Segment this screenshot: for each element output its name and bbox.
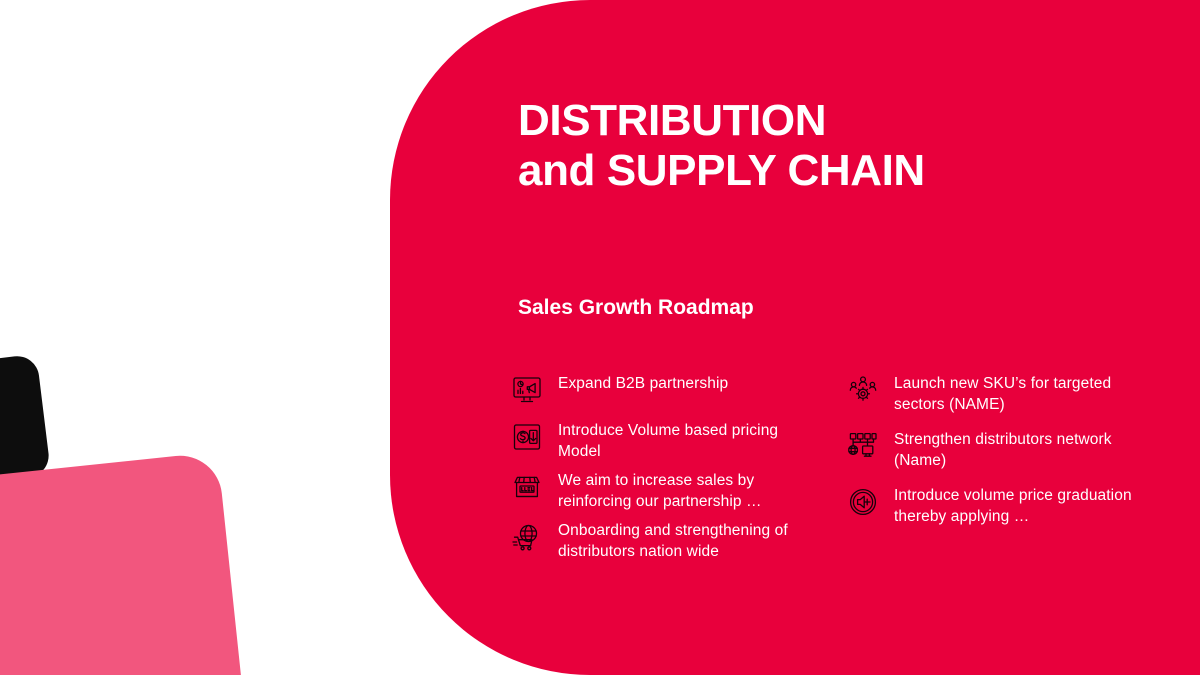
dollar-down-arrow-icon <box>510 420 544 454</box>
page-title: DISTRIBUTION and SUPPLY CHAIN <box>518 96 1138 196</box>
list-item[interactable]: Launch new SKU’s for targeted sectors (N… <box>846 372 1160 415</box>
list-item-label: We aim to increase sales by reinforcing … <box>558 469 824 512</box>
list-item[interactable]: We aim to increase sales by reinforcing … <box>510 469 824 512</box>
list-item-label: Introduce Volume based pricing Model <box>558 419 824 462</box>
section-subtitle: Sales Growth Roadmap <box>518 296 754 320</box>
network-globe-monitor-icon <box>846 429 880 463</box>
page-title-line-2: and SUPPLY CHAIN <box>518 146 1138 196</box>
list-item-label: Onboarding and strengthening of distribu… <box>558 519 824 562</box>
roadmap-column-left: Expand B2B partnership Introduce Volume … <box>510 372 824 572</box>
decorative-black-shape <box>0 354 51 485</box>
list-item[interactable]: Onboarding and strengthening of distribu… <box>510 519 824 562</box>
gear-people-target-icon <box>846 373 880 407</box>
page-title-line-1: DISTRIBUTION <box>518 96 1138 146</box>
roadmap-columns: Expand B2B partnership Introduce Volume … <box>510 372 1160 572</box>
globe-shopping-cart-icon <box>510 520 544 554</box>
list-item[interactable]: Introduce Volume based pricing Model <box>510 419 824 462</box>
monitor-analytics-megaphone-icon <box>510 373 544 407</box>
decorative-pink-shape <box>0 452 249 675</box>
list-item-label: Strengthen distributors network (Name) <box>894 428 1160 471</box>
list-item[interactable]: Introduce volume price graduation thereb… <box>846 484 1160 527</box>
storefront-sale-icon <box>510 470 544 504</box>
speaker-volume-plus-icon <box>846 485 880 519</box>
list-item-label: Expand B2B partnership <box>558 372 728 395</box>
list-item[interactable]: Strengthen distributors network (Name) <box>846 428 1160 471</box>
roadmap-column-right: Launch new SKU’s for targeted sectors (N… <box>846 372 1160 572</box>
list-item-label: Launch new SKU’s for targeted sectors (N… <box>894 372 1160 415</box>
slide-canvas: DISTRIBUTION and SUPPLY CHAIN Sales Grow… <box>0 0 1200 675</box>
list-item-label: Introduce volume price graduation thereb… <box>894 484 1160 527</box>
list-item[interactable]: Expand B2B partnership <box>510 372 824 407</box>
